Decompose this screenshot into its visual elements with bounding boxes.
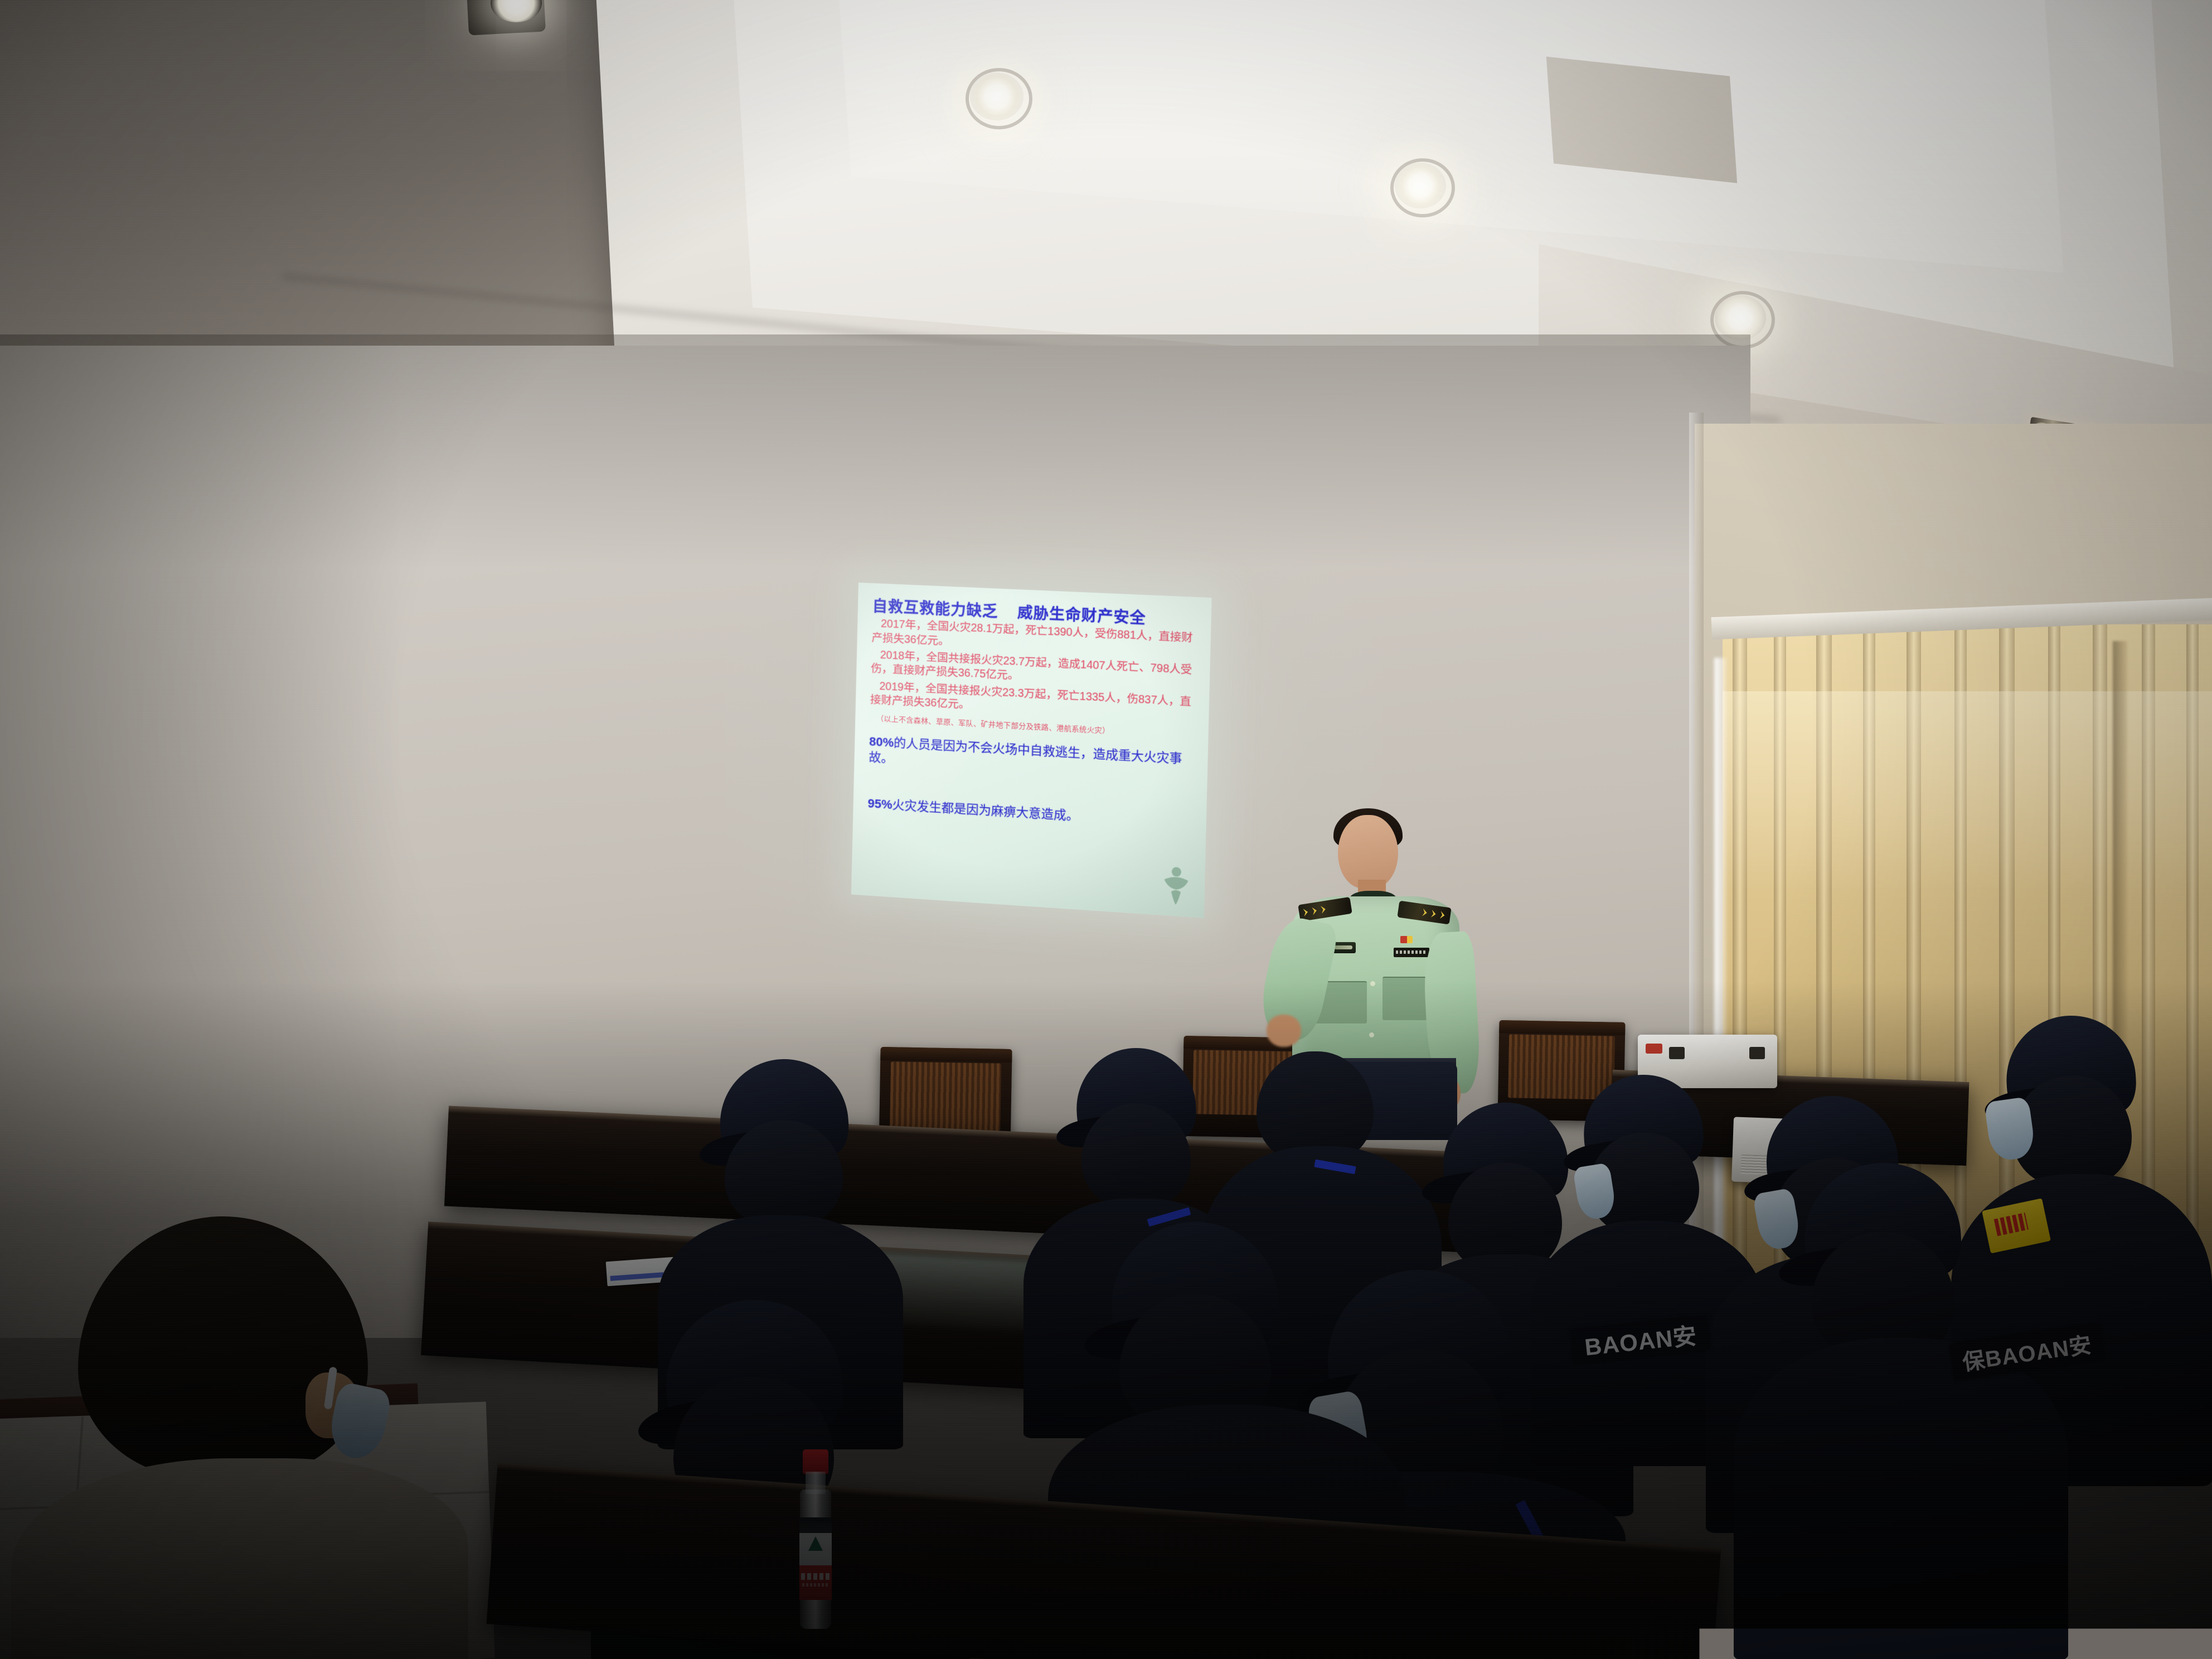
bottle-brand-en [802,1583,829,1587]
slide-title-right: 威胁生命财产安全 [1017,604,1146,627]
ceiling-downlight-ring-1 [966,68,1032,129]
conference-room-scene: 自救互救能力缺乏威胁生命财产安全 2017年，全国火灾28.1万起，死亡1390… [0,0,2212,1659]
ceiling-notch [1546,57,1737,183]
ceiling-downlight-ring-2 [1390,158,1455,217]
slide-conclusion-95: 95%火灾发生都是因为麻痹大意造成。 [867,796,1196,831]
beige-shirt [11,1458,468,1659]
wall-left-shading [0,334,401,1338]
bottle-brand-label: 农夫山泉 [798,1449,799,1450]
slide-title-left: 自救互救能力缺乏 [872,598,998,620]
bottle-cap-icon [803,1449,828,1474]
projected-slide: 自救互救能力缺乏威胁生命财产安全 2017年，全国火灾28.1万起，死亡1390… [851,583,1212,918]
curtain-light-gap [1714,658,1726,1282]
bottle-brand-cn [801,1573,830,1580]
presenter-hand-left [1267,1015,1301,1047]
presenter-flag-pin-icon [1400,936,1413,943]
wall-corner [1689,413,1704,1360]
water-bottle[interactable]: 农夫山泉 [798,1449,833,1633]
slide-conclusion-80-text: 的人员是因为不会火场中自救逃生，造成重大火灾事故。 [869,736,1182,766]
presenter-head [1338,815,1398,889]
slide-conclusion-80: 80%的人员是因为不会火场中自救逃生，造成重大火灾事故。 [869,734,1197,783]
slide-conclusion-80-pct: 80% [869,734,894,749]
slide-conclusion-95-text: 火灾发生都是因为麻痹大意造成。 [892,798,1079,823]
slide-conclusion-95-pct: 95% [867,797,892,812]
presenter-name-tag [1394,948,1429,957]
slide-watermark-logo [1158,864,1195,907]
